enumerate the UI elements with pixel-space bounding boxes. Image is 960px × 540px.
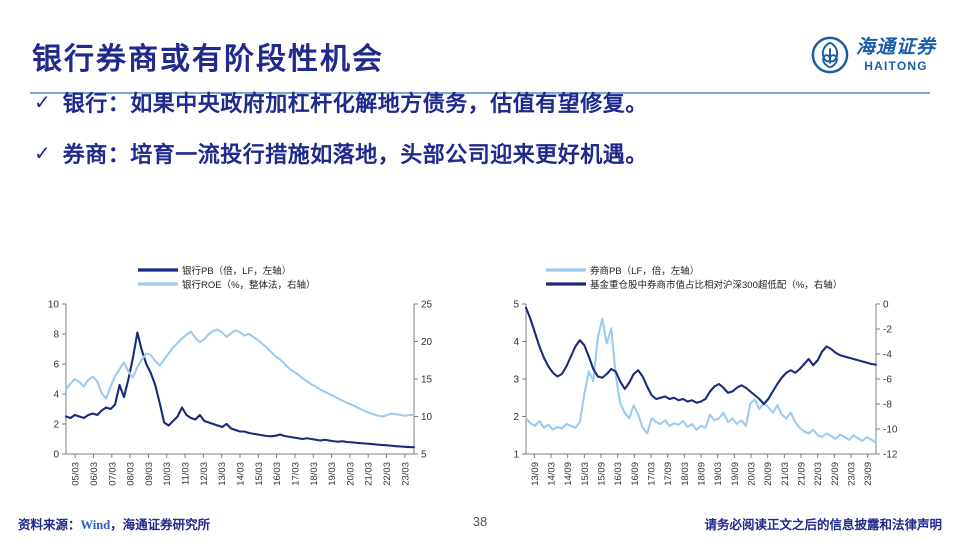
x-tick-label: 15/03 [580, 462, 591, 486]
x-tick-label: 16/03 [272, 462, 283, 486]
y-tick-label: 4 [53, 390, 59, 401]
y2-tick-label: -2 [883, 325, 892, 336]
x-tick-label: 16/03 [613, 462, 624, 486]
legend-item: 基金重仓股中券商市值占比相对沪深300超低配（%，右轴） [546, 279, 842, 291]
series-line [66, 330, 414, 417]
logo-chinese-name: 海通证券 [856, 38, 936, 57]
slide-root: 银行券商或有阶段性机会 海通证券 HAITONG ✓ 银 [0, 0, 960, 540]
x-tick-label: 14/03 [236, 462, 247, 486]
x-tick-label: 13/03 [217, 462, 228, 486]
y2-tick-label: 5 [421, 450, 427, 461]
bullet-text: 券商：培育一流投行措施如落地，头部公司迎来更好机遇。 [63, 141, 648, 170]
y-tick-label: 6 [53, 360, 59, 371]
y2-tick-label: 10 [421, 412, 433, 423]
x-tick-label: 19/03 [713, 462, 724, 486]
check-icon: ✓ [34, 141, 51, 166]
y-tick-label: 4 [513, 337, 519, 348]
disclaimer-note: 请务必阅读正文之后的信息披露和法律声明 [704, 514, 942, 533]
x-tick-label: 09/03 [144, 462, 155, 486]
x-tick-label: 10/03 [162, 462, 173, 486]
list-item: ✓ 银行：如果中央政府加杠杆化解地方债务，估值有望修复。 [34, 90, 924, 119]
x-tick-label: 22/03 [813, 462, 824, 486]
check-icon: ✓ [34, 90, 51, 115]
x-tick-label: 18/03 [680, 462, 691, 486]
x-tick-label: 15/03 [254, 462, 265, 486]
x-tick-label: 06/03 [89, 462, 100, 486]
x-tick-label: 21/09 [797, 462, 808, 486]
x-tick-label: 14/03 [547, 462, 558, 486]
legend-label: 银行PB（倍，LF，左轴） [182, 265, 291, 277]
x-tick-label: 23/09 [863, 462, 874, 486]
x-tick-label: 11/03 [181, 462, 192, 485]
legend-label: 基金重仓股中券商市值占比相对沪深300超低配（%，右轴） [590, 279, 842, 291]
y2-tick-label: -4 [883, 350, 892, 361]
series-line [66, 333, 414, 448]
x-tick-label: 14/09 [563, 462, 574, 486]
y2-tick-label: 0 [883, 300, 889, 311]
x-tick-label: 18/03 [309, 462, 320, 486]
x-tick-label: 16/09 [630, 462, 641, 486]
chart-bank-pb-roe-svg: 银行PB（倍，LF，左轴）银行ROE（%，整体法，右轴）024681051015… [18, 258, 478, 498]
x-tick-label: 21/03 [780, 462, 791, 486]
logo-english-name: HAITONG [864, 60, 928, 72]
y2-tick-label: 20 [421, 337, 433, 348]
slide-header: 银行券商或有阶段性机会 海通证券 HAITONG [0, 14, 960, 80]
x-tick-label: 23/03 [847, 462, 858, 486]
legend-item: 银行ROE（%，整体法，右轴） [138, 279, 316, 291]
y2-tick-label: -6 [883, 375, 892, 386]
chart-broker-pb-underweight-svg: 券商PB（LF，倍，左轴）基金重仓股中券商市值占比相对沪深300超低配（%，右轴… [486, 258, 948, 498]
x-tick-label: 19/09 [730, 462, 741, 486]
x-tick-label: 20/03 [345, 462, 356, 486]
legend-item: 券商PB（LF，倍，左轴） [546, 265, 699, 277]
y-tick-label: 8 [53, 330, 59, 341]
logo-wordmark: 海通证券 HAITONG [856, 38, 936, 72]
y2-tick-label: -8 [883, 400, 892, 411]
y-tick-label: 2 [53, 420, 59, 431]
x-tick-label: 17/03 [290, 462, 301, 486]
haitong-logo: 海通证券 HAITONG [811, 36, 936, 74]
y-tick-label: 10 [48, 300, 60, 311]
y2-tick-label: -10 [883, 425, 898, 436]
x-tick-label: 12/03 [199, 462, 210, 486]
x-tick-label: 23/03 [400, 462, 411, 486]
series-line [526, 319, 876, 443]
x-tick-label: 18/09 [697, 462, 708, 486]
x-tick-label: 21/03 [364, 462, 375, 486]
x-tick-label: 08/03 [126, 462, 137, 486]
y-tick-label: 2 [513, 412, 519, 423]
x-tick-label: 17/03 [647, 462, 658, 486]
slide-footer: 资料来源：Wind，海通证券研究所 38 请务必阅读正文之后的信息披露和法律声明 [0, 506, 960, 540]
x-tick-label: 13/09 [530, 462, 541, 486]
x-tick-label: 22/03 [382, 462, 393, 486]
y-tick-label: 3 [513, 375, 519, 386]
y-tick-label: 1 [513, 450, 519, 461]
x-tick-label: 20/03 [747, 462, 758, 486]
y-tick-label: 0 [53, 450, 59, 461]
series-line [526, 308, 876, 404]
list-item: ✓ 券商：培育一流投行措施如落地，头部公司迎来更好机遇。 [34, 141, 924, 170]
x-tick-label: 05/03 [71, 462, 82, 486]
haitong-emblem-icon [811, 36, 849, 74]
y2-tick-label: 15 [421, 375, 433, 386]
legend-item: 银行PB（倍，LF，左轴） [138, 265, 291, 277]
page-title: 银行券商或有阶段性机会 [32, 34, 384, 78]
y-tick-label: 5 [513, 300, 519, 311]
legend-label: 券商PB（LF，倍，左轴） [590, 265, 699, 277]
x-tick-label: 19/03 [327, 462, 338, 486]
chart-broker-pb-underweight: 券商PB（LF，倍，左轴）基金重仓股中券商市值占比相对沪深300超低配（%，右轴… [486, 258, 948, 498]
x-tick-label: 17/09 [663, 462, 674, 486]
bullet-text: 银行：如果中央政府加杠杆化解地方债务，估值有望修复。 [63, 90, 648, 119]
y2-tick-label: 25 [421, 300, 433, 311]
y2-tick-label: -12 [883, 450, 898, 461]
legend-label: 银行ROE（%，整体法，右轴） [182, 279, 316, 291]
x-tick-label: 07/03 [107, 462, 118, 486]
bullet-list: ✓ 银行：如果中央政府加杠杆化解地方债务，估值有望修复。 ✓ 券商：培育一流投行… [34, 90, 924, 191]
x-tick-label: 15/09 [597, 462, 608, 486]
x-tick-label: 20/09 [763, 462, 774, 486]
x-tick-label: 22/09 [830, 462, 841, 486]
chart-bank-pb-roe: 银行PB（倍，LF，左轴）银行ROE（%，整体法，右轴）024681051015… [18, 258, 478, 498]
